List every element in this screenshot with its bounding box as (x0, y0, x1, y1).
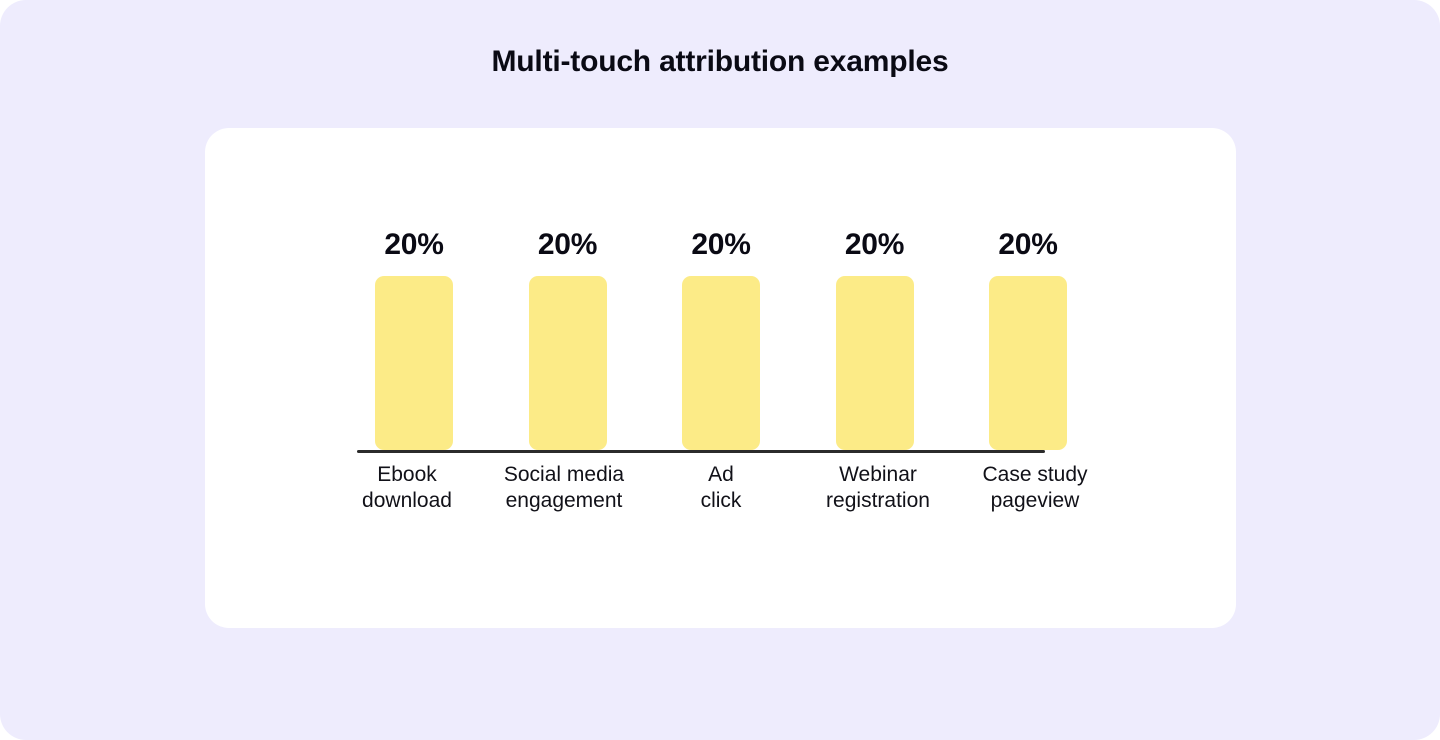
bar-group[interactable]: 20% (375, 210, 453, 450)
bar-value-label: 20% (538, 228, 597, 262)
chart-plot-area: 20% 20% 20% 20% 20% (375, 210, 1067, 540)
bar-group[interactable]: 20% (682, 210, 760, 450)
category-label: Webinar registration (806, 462, 950, 514)
chart-baseline-axis (357, 450, 1045, 453)
bar-group[interactable]: 20% (989, 210, 1067, 450)
bar-rect[interactable] (529, 276, 607, 450)
category-label: Ad click (649, 462, 793, 514)
category-label: Social media engagement (492, 462, 636, 514)
category-axis-labels: Ebook download Social media engagement A… (335, 462, 1107, 514)
category-label: Case study pageview (963, 462, 1107, 514)
bar-value-label: 20% (691, 228, 750, 262)
page-title: Multi-touch attribution examples (0, 45, 1440, 79)
page-root: Multi-touch attribution examples 20% 20%… (0, 0, 1440, 740)
chart-card: 20% 20% 20% 20% 20% (205, 128, 1236, 628)
bar-value-label: 20% (998, 228, 1057, 262)
bar-group[interactable]: 20% (836, 210, 914, 450)
bar-value-label: 20% (845, 228, 904, 262)
bar-value-label: 20% (384, 228, 443, 262)
category-label: Ebook download (335, 462, 479, 514)
bar-rect[interactable] (836, 276, 914, 450)
bar-rect[interactable] (989, 276, 1067, 450)
bar-rect[interactable] (682, 276, 760, 450)
bar-series: 20% 20% 20% 20% 20% (375, 210, 1067, 450)
bar-group[interactable]: 20% (529, 210, 607, 450)
bar-rect[interactable] (375, 276, 453, 450)
